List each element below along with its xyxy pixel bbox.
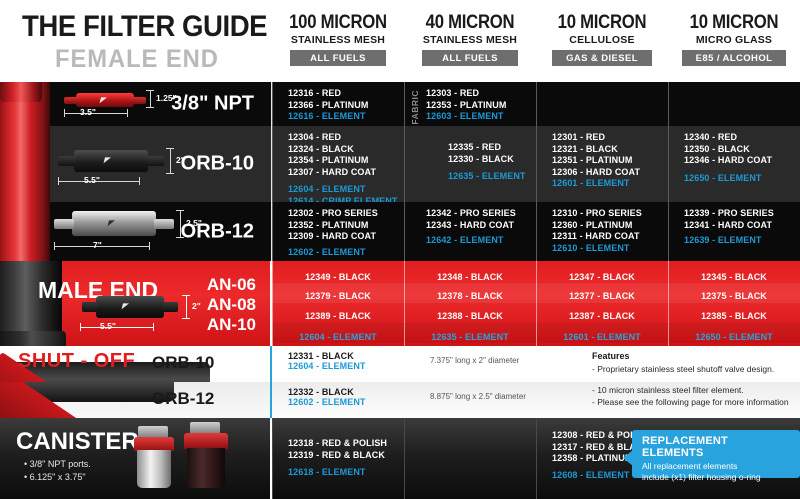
large-red-filter-image [0,202,50,261]
cell-orb12-100micron: 12302 - PRO SERIES 12352 - PLATINUM 1230… [272,202,404,261]
cell-male-10micron-microglass: 12345 - BLACK 12375 - BLACK 12385 - BLAC… [668,261,800,346]
part-number: 12389 - BLACK [305,311,371,321]
row-label-an06: AN-06 [207,275,256,295]
cell-orb10-10micron-cellulose: 12301 - RED 12321 - BLACK 12351 - PLATIN… [536,126,668,202]
column-media-label: CELLULOSE [536,34,668,46]
cell-male-40micron: 12348 - BLACK 12378 - BLACK 12388 - BLAC… [404,261,536,346]
cell-orb12-40micron: 12342 - PRO SERIES 12343 - HARD COAT 126… [404,202,536,261]
part-number: 12385 - BLACK [701,311,767,321]
part-number-element: 12635 - ELEMENT [431,332,509,342]
page-title: THE FILTER GUIDE [22,10,267,44]
column-header-1: 100 MICRON STAINLESS MESH ALL FUELS [272,12,404,78]
part-number: 12352 - PLATINUM [288,220,404,232]
part-number: 12387 - BLACK [569,311,635,321]
column-header-2: 40 MICRON STAINLESS MESH ALL FUELS [404,12,536,78]
section-title-shut-off: SHUT - OFF [18,350,135,373]
row-orb10-left: ◤ 5.5" 2" ORB-10 [0,126,272,202]
part-number-element: 12601 - ELEMENT [552,178,668,190]
male-end-cells: 12349 - BLACK 12379 - BLACK 12389 - BLAC… [272,261,800,346]
part-number: 12309 - HARD COAT [288,231,404,243]
male-end-filter-image: ◤ [78,295,182,319]
part-number: 12321 - BLACK [552,144,668,156]
orb10-filter-image: ◤ [56,148,166,174]
part-number: 12319 - RED & BLACK [288,450,404,462]
page-header: THE FILTER GUIDE FEMALE END 100 MICRON S… [0,0,800,82]
part-number: 12340 - RED [684,132,800,144]
shutoff-orb12-cells: 12332 - BLACK 12602 - ELEMENT 8.875" lon… [272,382,800,418]
cell-npt-100micron: 12316 - RED 12366 - PLATINUM 12616 - ELE… [272,82,404,126]
part-number: 12310 - PRO SERIES [552,208,668,220]
male-end-diameter-dim: 2" [192,301,201,311]
row-orb12-left: ◤ 7" 2.5" ORB-12 [0,202,272,261]
cell-npt-10micron-microglass [668,82,800,126]
part-number: 12354 - PLATINUM [288,155,404,167]
row-label-an08: AN-08 [207,295,256,315]
part-number: 12330 - BLACK [448,154,536,166]
shutoff-features-continued: - 10 micron stainless steel filter eleme… [580,382,800,418]
row-label-shutoff-orb10: ORB-10 [152,353,214,373]
row-orb12-cells: 12302 - PRO SERIES 12352 - PLATINUM 1230… [272,202,800,261]
row-npt-left: ◤ 3.5" 1.25" 3/8" NPT [0,82,272,126]
row-label-shutoff-orb12: ORB-12 [152,389,214,409]
part-number: 12353 - PLATINUM [426,100,536,112]
part-number: 12347 - BLACK [569,272,635,282]
row-orb10: ◤ 5.5" 2" ORB-10 12304 - RED 12324 - BLA… [0,126,800,202]
part-number-element: 12603 - ELEMENT [426,111,536,123]
part-number: 12351 - PLATINUM [552,155,668,167]
orb12-filter-image: ◤ [52,210,176,238]
part-number-element: 12642 - ELEMENT [426,235,536,247]
part-number: 12324 - BLACK [288,144,404,156]
part-number: 12316 - RED [288,88,404,100]
part-number: 12349 - BLACK [305,272,371,282]
row-label-orb10: ORB-10 [181,153,254,176]
part-number-element: 12639 - ELEMENT [684,235,800,247]
part-number-element: 12604 - ELEMENT [288,184,404,196]
part-number: 12335 - RED [448,142,536,154]
part-number-element: 12650 - ELEMENT [684,173,800,185]
row-npt: ◤ 3.5" 1.25" 3/8" NPT 12316 - RED 12366 … [0,82,800,126]
part-number: 12307 - HARD COAT [288,167,404,179]
section-canister: CANISTER • 3/8" NPT ports. • 6.125" x 3.… [0,418,800,499]
column-media-label: STAINLESS MESH [404,34,536,46]
cell-shutoff-orb12-parts: 12332 - BLACK 12602 - ELEMENT [272,382,430,418]
column-media-label: MICRO GLASS [668,34,800,46]
shutoff-features: Features - Proprietary stainless steel s… [580,346,800,382]
npt-length-dim: 3.5" [80,107,96,117]
part-number-element: 12604 - ELEMENT [288,361,430,371]
filter-guide-page: THE FILTER GUIDE FEMALE END 100 MICRON S… [0,0,800,499]
part-number: 12345 - BLACK [701,272,767,282]
column-media-label: STAINLESS MESH [272,34,404,46]
cell-orb12-10micron-microglass: 12339 - PRO SERIES 12341 - HARD COAT 126… [668,202,800,261]
row-orb12: ◤ 7" 2.5" ORB-12 12302 - PRO SERIES 1235… [0,202,800,261]
cell-npt-10micron-cellulose [536,82,668,126]
cell-canister-10micron-microglass: REPLACEMENT ELEMENTS All replacement ele… [668,418,800,499]
cell-orb12-10micron-cellulose: 12310 - PRO SERIES 12360 - PLATINUM 1231… [536,202,668,261]
part-number: 12366 - PLATINUM [288,100,404,112]
product-table: ◤ 3.5" 1.25" 3/8" NPT 12316 - RED 12366 … [0,82,800,499]
part-number-element: 12604 - ELEMENT [299,332,377,342]
part-number: 12311 - HARD COAT [552,231,668,243]
column-micron-label: 100 MICRON [280,12,396,33]
part-number: 12360 - PLATINUM [552,220,668,232]
cell-orb10-100micron: 12304 - RED 12324 - BLACK 12354 - PLATIN… [272,126,404,202]
part-number-element: 12601 - ELEMENT [563,332,641,342]
section-title-canister: CANISTER [16,428,139,456]
orb12-length-dim: 7" [93,240,102,250]
cell-shutoff-orb12-dimensions: 8.875" long x 2.5" diameter [430,382,580,418]
cell-shutoff-orb10-dimensions: 7.375" long x 2" diameter [430,346,580,382]
column-micron-label: 40 MICRON [412,12,528,33]
part-number: 12348 - BLACK [437,272,503,282]
part-number: 12378 - BLACK [437,291,503,301]
cell-canister-40micron [404,418,536,499]
canister-left: CANISTER • 3/8" NPT ports. • 6.125" x 3.… [0,418,272,499]
npt-filter-image: ◤ [62,91,148,109]
replacement-elements-title: REPLACEMENT ELEMENTS [642,435,792,459]
cell-male-100micron: 12349 - BLACK 12379 - BLACK 12389 - BLAC… [272,261,404,346]
column-header-3: 10 MICRON CELLULOSE GAS & DIESEL [536,12,668,78]
feature-item: - Proprietary stainless steel shutoff va… [592,363,800,375]
canister-spec-ports: • 3/8" NPT ports. [24,458,91,471]
part-number-element: 12618 - ELEMENT [288,467,404,479]
part-number: 12301 - RED [552,132,668,144]
part-number: 12379 - BLACK [305,291,371,301]
column-micron-label: 10 MICRON [676,12,792,33]
part-number-element: 12602 - ELEMENT [288,397,430,407]
cell-orb10-40micron: 12335 - RED 12330 - BLACK 12635 - ELEMEN… [404,126,536,202]
part-number: 12318 - RED & POLISH [288,438,404,450]
fabric-label: FABRIC [410,90,420,125]
row-shutoff-orb10: SHUT - OFF ORB-10 12331 - BLACK 12604 - … [0,346,800,382]
row-shutoff-orb12: ORB-12 12332 - BLACK 12602 - ELEMENT 8.8… [0,382,800,418]
feature-item: - Please see the following page for more… [592,396,800,408]
male-end-length-dim: 5.5" [100,321,116,331]
part-number: 12303 - RED [426,88,536,100]
row-label-an10: AN-10 [207,315,256,335]
part-number: 12302 - PRO SERIES [288,208,404,220]
shutoff-orb10-cells: 12331 - BLACK 12604 - ELEMENT 7.375" lon… [272,346,800,382]
part-number: 12342 - PRO SERIES [426,208,536,220]
row-orb10-cells: 12304 - RED 12324 - BLACK 12354 - PLATIN… [272,126,800,202]
part-number: 12331 - BLACK [288,351,430,361]
cell-canister-100micron: 12318 - RED & POLISH 12319 - RED & BLACK… [272,418,404,499]
part-number: 12341 - HARD COAT [684,220,800,232]
canister-spec-size: • 6.125" x 3.75" [24,471,86,484]
part-number: 12375 - BLACK [701,291,767,301]
part-number: 12346 - HARD COAT [684,155,800,167]
column-fuel-badge: E85 / ALCOHOL [682,50,787,66]
large-red-filter-image [0,82,50,126]
canister-image-black [182,422,230,488]
section-male-end: MALE END ◤ 5.5" 2" AN-06 AN-08 AN-10 [0,261,800,346]
part-number-element: 12635 - ELEMENT [448,171,536,183]
cell-male-10micron-cellulose: 12347 - BLACK 12377 - BLACK 12387 - BLAC… [536,261,668,346]
part-number-element: 12616 - ELEMENT [288,111,404,123]
canister-image-polish [132,426,176,488]
part-number: 12339 - PRO SERIES [684,208,800,220]
cell-shutoff-orb10-parts: 12331 - BLACK 12604 - ELEMENT [272,346,430,382]
part-number: 12332 - BLACK [288,387,430,397]
cell-npt-40micron: FABRIC 12303 - RED 12353 - PLATINUM 1260… [404,82,536,126]
feature-item: - 10 micron stainless steel filter eleme… [592,384,800,396]
row-label-npt: 3/8" NPT [171,93,254,116]
shutoff-left-orb10: SHUT - OFF ORB-10 [0,346,272,382]
section-subtitle-female-end: FEMALE END [55,45,219,74]
part-number: 12343 - HARD COAT [426,220,536,232]
dimensions-text: 8.875" long x 2.5" diameter [430,392,580,401]
column-micron-label: 10 MICRON [544,12,660,33]
part-number: 12388 - BLACK [437,311,503,321]
part-number: 12304 - RED [288,132,404,144]
column-fuel-badge: GAS & DIESEL [552,50,652,66]
features-heading: Features [592,351,800,361]
canister-cells: 12318 - RED & POLISH 12319 - RED & BLACK… [272,418,800,499]
part-number-element: 12610 - ELEMENT [552,243,668,255]
dimensions-text: 7.375" long x 2" diameter [430,356,580,365]
orb10-length-dim: 5.5" [84,175,100,185]
replacement-elements-line1: All replacement elements [642,461,792,472]
large-red-filter-image [0,126,50,202]
column-fuel-badge: ALL FUELS [290,50,386,66]
part-number: 12377 - BLACK [569,291,635,301]
column-fuel-badge: ALL FUELS [422,50,518,66]
column-headers: 100 MICRON STAINLESS MESH ALL FUELS 40 M… [272,12,800,78]
part-number: 12350 - BLACK [684,144,800,156]
cell-orb10-10micron-microglass: 12340 - RED 12350 - BLACK 12346 - HARD C… [668,126,800,202]
part-number: 12306 - HARD COAT [552,167,668,179]
male-end-left: MALE END ◤ 5.5" 2" AN-06 AN-08 AN-10 [0,261,272,346]
column-header-4: 10 MICRON MICRO GLASS E85 / ALCOHOL [668,12,800,78]
part-number-element: 12602 - ELEMENT [288,247,404,259]
row-npt-cells: 12316 - RED 12366 - PLATINUM 12616 - ELE… [272,82,800,126]
part-number-element: 12650 - ELEMENT [695,332,773,342]
row-label-orb12: ORB-12 [181,220,254,243]
shutoff-left-orb12: ORB-12 [0,382,272,418]
replacement-elements-badge: REPLACEMENT ELEMENTS All replacement ele… [632,430,800,478]
replacement-elements-line2: include (x1) filter housing o-ring [642,472,792,483]
